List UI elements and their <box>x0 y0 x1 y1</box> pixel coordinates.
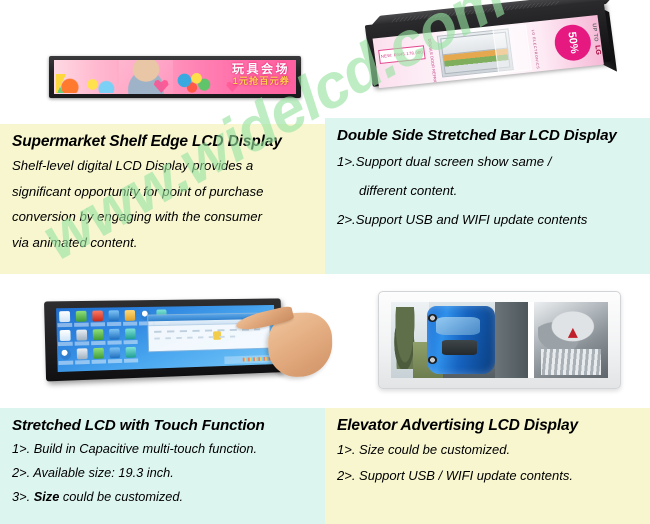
body-line: conversion by engaging with the consumer <box>12 204 315 230</box>
wheel <box>428 356 438 364</box>
price-tag: NEW: RS45.178.000 <box>378 45 426 64</box>
hand-touching-screen <box>253 306 337 380</box>
discount-badge: 50% <box>553 23 594 62</box>
body-line: 1>.Support dual screen show same / <box>337 147 640 176</box>
document-icon <box>59 311 70 322</box>
ad-pane-car-photo <box>391 302 528 378</box>
blue-car <box>427 306 495 374</box>
panel-supermarket-shelf-edge: Supermarket Shelf Edge LCD Display Shelf… <box>0 124 325 274</box>
panel-title: Stretched LCD with Touch Function <box>12 416 315 435</box>
car-emblem <box>568 328 578 338</box>
ad-pane-silver-car-photo <box>534 302 608 378</box>
body-line: 3>. Size could be customized. <box>12 485 315 509</box>
body-line: 2>. Available size: 19.3 inch. <box>12 461 315 485</box>
display-screen: 玩具会场 1元抢百元券 <box>54 60 296 94</box>
desktop-icon-row <box>60 347 136 360</box>
desktop-icon-row <box>60 328 136 341</box>
recycle-icon <box>76 311 87 322</box>
elevator-advertising-lcd-photo <box>378 291 621 389</box>
display-screen: NEW: RS45.178.000 DOUBLE DOOR REFRIGERAT… <box>373 15 604 88</box>
computer-icon <box>76 330 87 341</box>
body-line: different content. <box>337 176 640 205</box>
glass-overlay <box>492 24 532 73</box>
display-screen <box>56 305 276 372</box>
body-line: 1>. Build in Capacitive multi-touch func… <box>12 437 315 461</box>
panel-elevator-advertising: Elevator Advertising LCD Display 1>. Siz… <box>325 408 650 524</box>
up-to-label: UP TO <box>590 23 598 42</box>
player-icon <box>125 328 136 339</box>
panel-stretched-lcd-touch: Stretched LCD with Touch Function 1>. Bu… <box>0 408 325 524</box>
panel-title: Elevator Advertising LCD Display <box>337 416 640 435</box>
display-bezel: 玩具会场 1元抢百元券 <box>49 56 301 98</box>
browser-icon <box>109 310 120 321</box>
panel-title: Supermarket Shelf Edge LCD Display <box>12 132 315 151</box>
settings-icon <box>109 329 120 340</box>
body-line: via animated content. <box>12 230 315 256</box>
stretched-touch-lcd-photo <box>44 287 311 390</box>
body-line: significant opportunity for point of pur… <box>12 179 315 205</box>
panel-body: 1>. Size could be customized. 2>. Suppor… <box>337 437 640 489</box>
panel-double-side-stretched-bar: Double Side Stretched Bar LCD Display 1>… <box>325 118 650 274</box>
network-icon <box>93 329 104 340</box>
panel-title: Double Side Stretched Bar LCD Display <box>337 126 640 145</box>
shelf-edge-bar-lcd-photo: 玩具会场 1元抢百元券 <box>49 56 301 98</box>
antivirus-icon <box>93 348 104 359</box>
panel-body: 1>.Support dual screen show same / diffe… <box>337 147 640 234</box>
screen-headline-cn: 玩具会场 <box>232 63 290 75</box>
body-line: 1>. Size could be customized. <box>337 437 640 463</box>
panel-body: 1>. Build in Capacitive multi-touch func… <box>12 437 315 509</box>
display-screen <box>391 302 608 378</box>
road <box>495 302 528 378</box>
highlight-marker <box>213 331 221 340</box>
folder-icon <box>125 310 136 321</box>
screen-subline-cn: 1元抢百元券 <box>233 77 290 86</box>
product-sheet-page: 玩具会场 1元抢百元券 NEW: RS45.178.000 DOUBLE DOO… <box>0 0 650 524</box>
editor-icon <box>126 347 137 358</box>
brand-subline: LG ELECTRONICS <box>531 30 540 70</box>
display-bezel <box>44 298 283 381</box>
toy-graphics-mid <box>173 72 212 94</box>
wheel <box>428 314 438 322</box>
drive-icon <box>77 348 88 359</box>
display-bezel <box>378 291 621 389</box>
document-icon <box>60 330 71 341</box>
lg-logo: LG <box>593 45 601 55</box>
body-line: 2>. Support USB / WIFI update contents. <box>337 463 640 489</box>
body-line: Shelf-level digital LCD Display provides… <box>12 153 315 179</box>
toy-graphics-left <box>56 74 119 94</box>
discount-value: 50% <box>565 31 580 54</box>
store-icon <box>109 347 120 358</box>
double-side-stretched-bar-lcd-photo: NEW: RS45.178.000 DOUBLE DOOR REFRIGERAT… <box>364 0 625 123</box>
panel-body: Shelf-level digital LCD Display provides… <box>12 153 315 255</box>
body-line: 2>.Support USB and WIFI update contents <box>337 205 640 234</box>
messenger-icon <box>60 349 71 360</box>
media-icon <box>92 311 103 322</box>
